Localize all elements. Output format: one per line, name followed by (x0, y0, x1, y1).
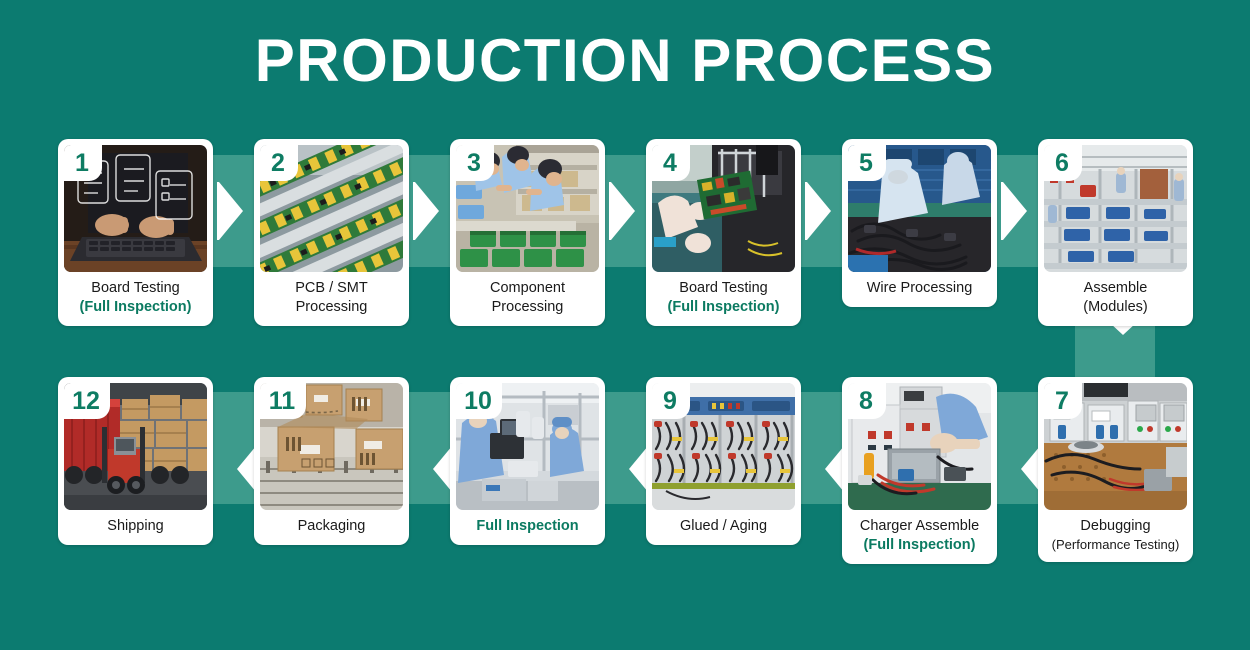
step-label-3: Component Processing (456, 272, 599, 326)
step-label-line2-2: Processing (262, 298, 401, 317)
process-step-card-12[interactable]: 12 Shipping (58, 377, 213, 545)
step-label-12: Shipping (64, 510, 207, 545)
step-label-7: Debugging (Performance Testing) (1044, 510, 1187, 562)
step-number-badge-5: 5 (848, 145, 886, 181)
step-label-line1-6: Assemble (1046, 279, 1185, 298)
process-step-card-8[interactable]: 8 Charger Assemble (Full Inspection) (842, 377, 997, 564)
step-image-12: 12 (64, 383, 207, 510)
step-label-line1-12: Shipping (66, 517, 205, 536)
step-label-line2-8: (Full Inspection) (850, 536, 989, 555)
step-image-2: 2 (260, 145, 403, 272)
process-step-card-7[interactable]: 7 Debugging (Performance Testing) (1038, 377, 1193, 562)
step-image-7: 7 (1044, 383, 1187, 510)
step-label-line1-5: Wire Processing (850, 279, 989, 298)
step-image-10: 10 (456, 383, 599, 510)
step-label-10: Full Inspection (456, 510, 599, 545)
step-label-9: Glued / Aging (652, 510, 795, 545)
step-image-9: 9 (652, 383, 795, 510)
process-step-card-4[interactable]: 4 Board Testing (Full Inspection) (646, 139, 801, 326)
arrow-right-icon-3 (609, 182, 635, 240)
step-image-5: 5 (848, 145, 991, 272)
process-step-card-2[interactable]: 2 PCB / SMT Processing (254, 139, 409, 326)
step-label-line2-4: (Full Inspection) (654, 298, 793, 317)
process-step-card-10[interactable]: 10 Full Inspection (450, 377, 605, 545)
page-title: PRODUCTION PROCESS (0, 26, 1250, 95)
step-label-6: Assemble (Modules) (1044, 272, 1187, 326)
process-step-card-5[interactable]: 5 Wire Processing (842, 139, 997, 307)
process-step-card-6[interactable]: 6 Assemble (Modules) (1038, 139, 1193, 326)
step-image-3: 3 (456, 145, 599, 272)
step-number-badge-8: 8 (848, 383, 886, 419)
step-number-badge-11: 11 (260, 383, 306, 419)
step-label-line1-8: Charger Assemble (850, 517, 989, 536)
step-number-badge-3: 3 (456, 145, 494, 181)
step-label-1: Board Testing (Full Inspection) (64, 272, 207, 326)
step-label-line1-3: Component (458, 279, 597, 298)
step-number-badge-10: 10 (456, 383, 502, 419)
process-step-card-11[interactable]: 11 Packaging (254, 377, 409, 545)
process-step-card-1[interactable]: 1 Board Testing (Full Inspection) (58, 139, 213, 326)
step-number-badge-1: 1 (64, 145, 102, 181)
step-number-badge-4: 4 (652, 145, 690, 181)
step-number-badge-6: 6 (1044, 145, 1082, 181)
step-label-11: Packaging (260, 510, 403, 545)
step-label-line2-3: Processing (458, 298, 597, 317)
step-label-line1-2: PCB / SMT (262, 279, 401, 298)
step-label-line2-6: (Modules) (1046, 298, 1185, 317)
step-label-line2-1: (Full Inspection) (66, 298, 205, 317)
step-image-11: 11 (260, 383, 403, 510)
step-label-5: Wire Processing (848, 272, 991, 307)
step-number-badge-7: 7 (1044, 383, 1082, 419)
step-label-2: PCB / SMT Processing (260, 272, 403, 326)
step-image-8: 8 (848, 383, 991, 510)
arrow-right-icon-4 (805, 182, 831, 240)
step-label-line1-9: Glued / Aging (654, 517, 793, 536)
production-process-infographic: PRODUCTION PROCESS (0, 0, 1250, 650)
step-label-4: Board Testing (Full Inspection) (652, 272, 795, 326)
process-step-card-9[interactable]: 9 Glued / Aging (646, 377, 801, 545)
step-label-8: Charger Assemble (Full Inspection) (848, 510, 991, 564)
step-label-line2-7: (Performance Testing) (1046, 536, 1185, 553)
step-image-4: 4 (652, 145, 795, 272)
arrow-right-icon-5 (1001, 182, 1027, 240)
step-number-badge-12: 12 (64, 383, 110, 419)
arrow-right-icon-2 (413, 182, 439, 240)
step-label-line1-1: Board Testing (66, 279, 205, 298)
step-image-1: 1 (64, 145, 207, 272)
step-number-badge-2: 2 (260, 145, 298, 181)
process-step-card-3[interactable]: 3 Component Processing (450, 139, 605, 326)
step-label-line1-4: Board Testing (654, 279, 793, 298)
step-label-line1-11: Packaging (262, 517, 401, 536)
step-image-6: 6 (1044, 145, 1187, 272)
step-label-line1-10: Full Inspection (458, 517, 597, 536)
step-label-line1-7: Debugging (1046, 517, 1185, 536)
step-number-badge-9: 9 (652, 383, 690, 419)
arrow-right-icon-1 (217, 182, 243, 240)
